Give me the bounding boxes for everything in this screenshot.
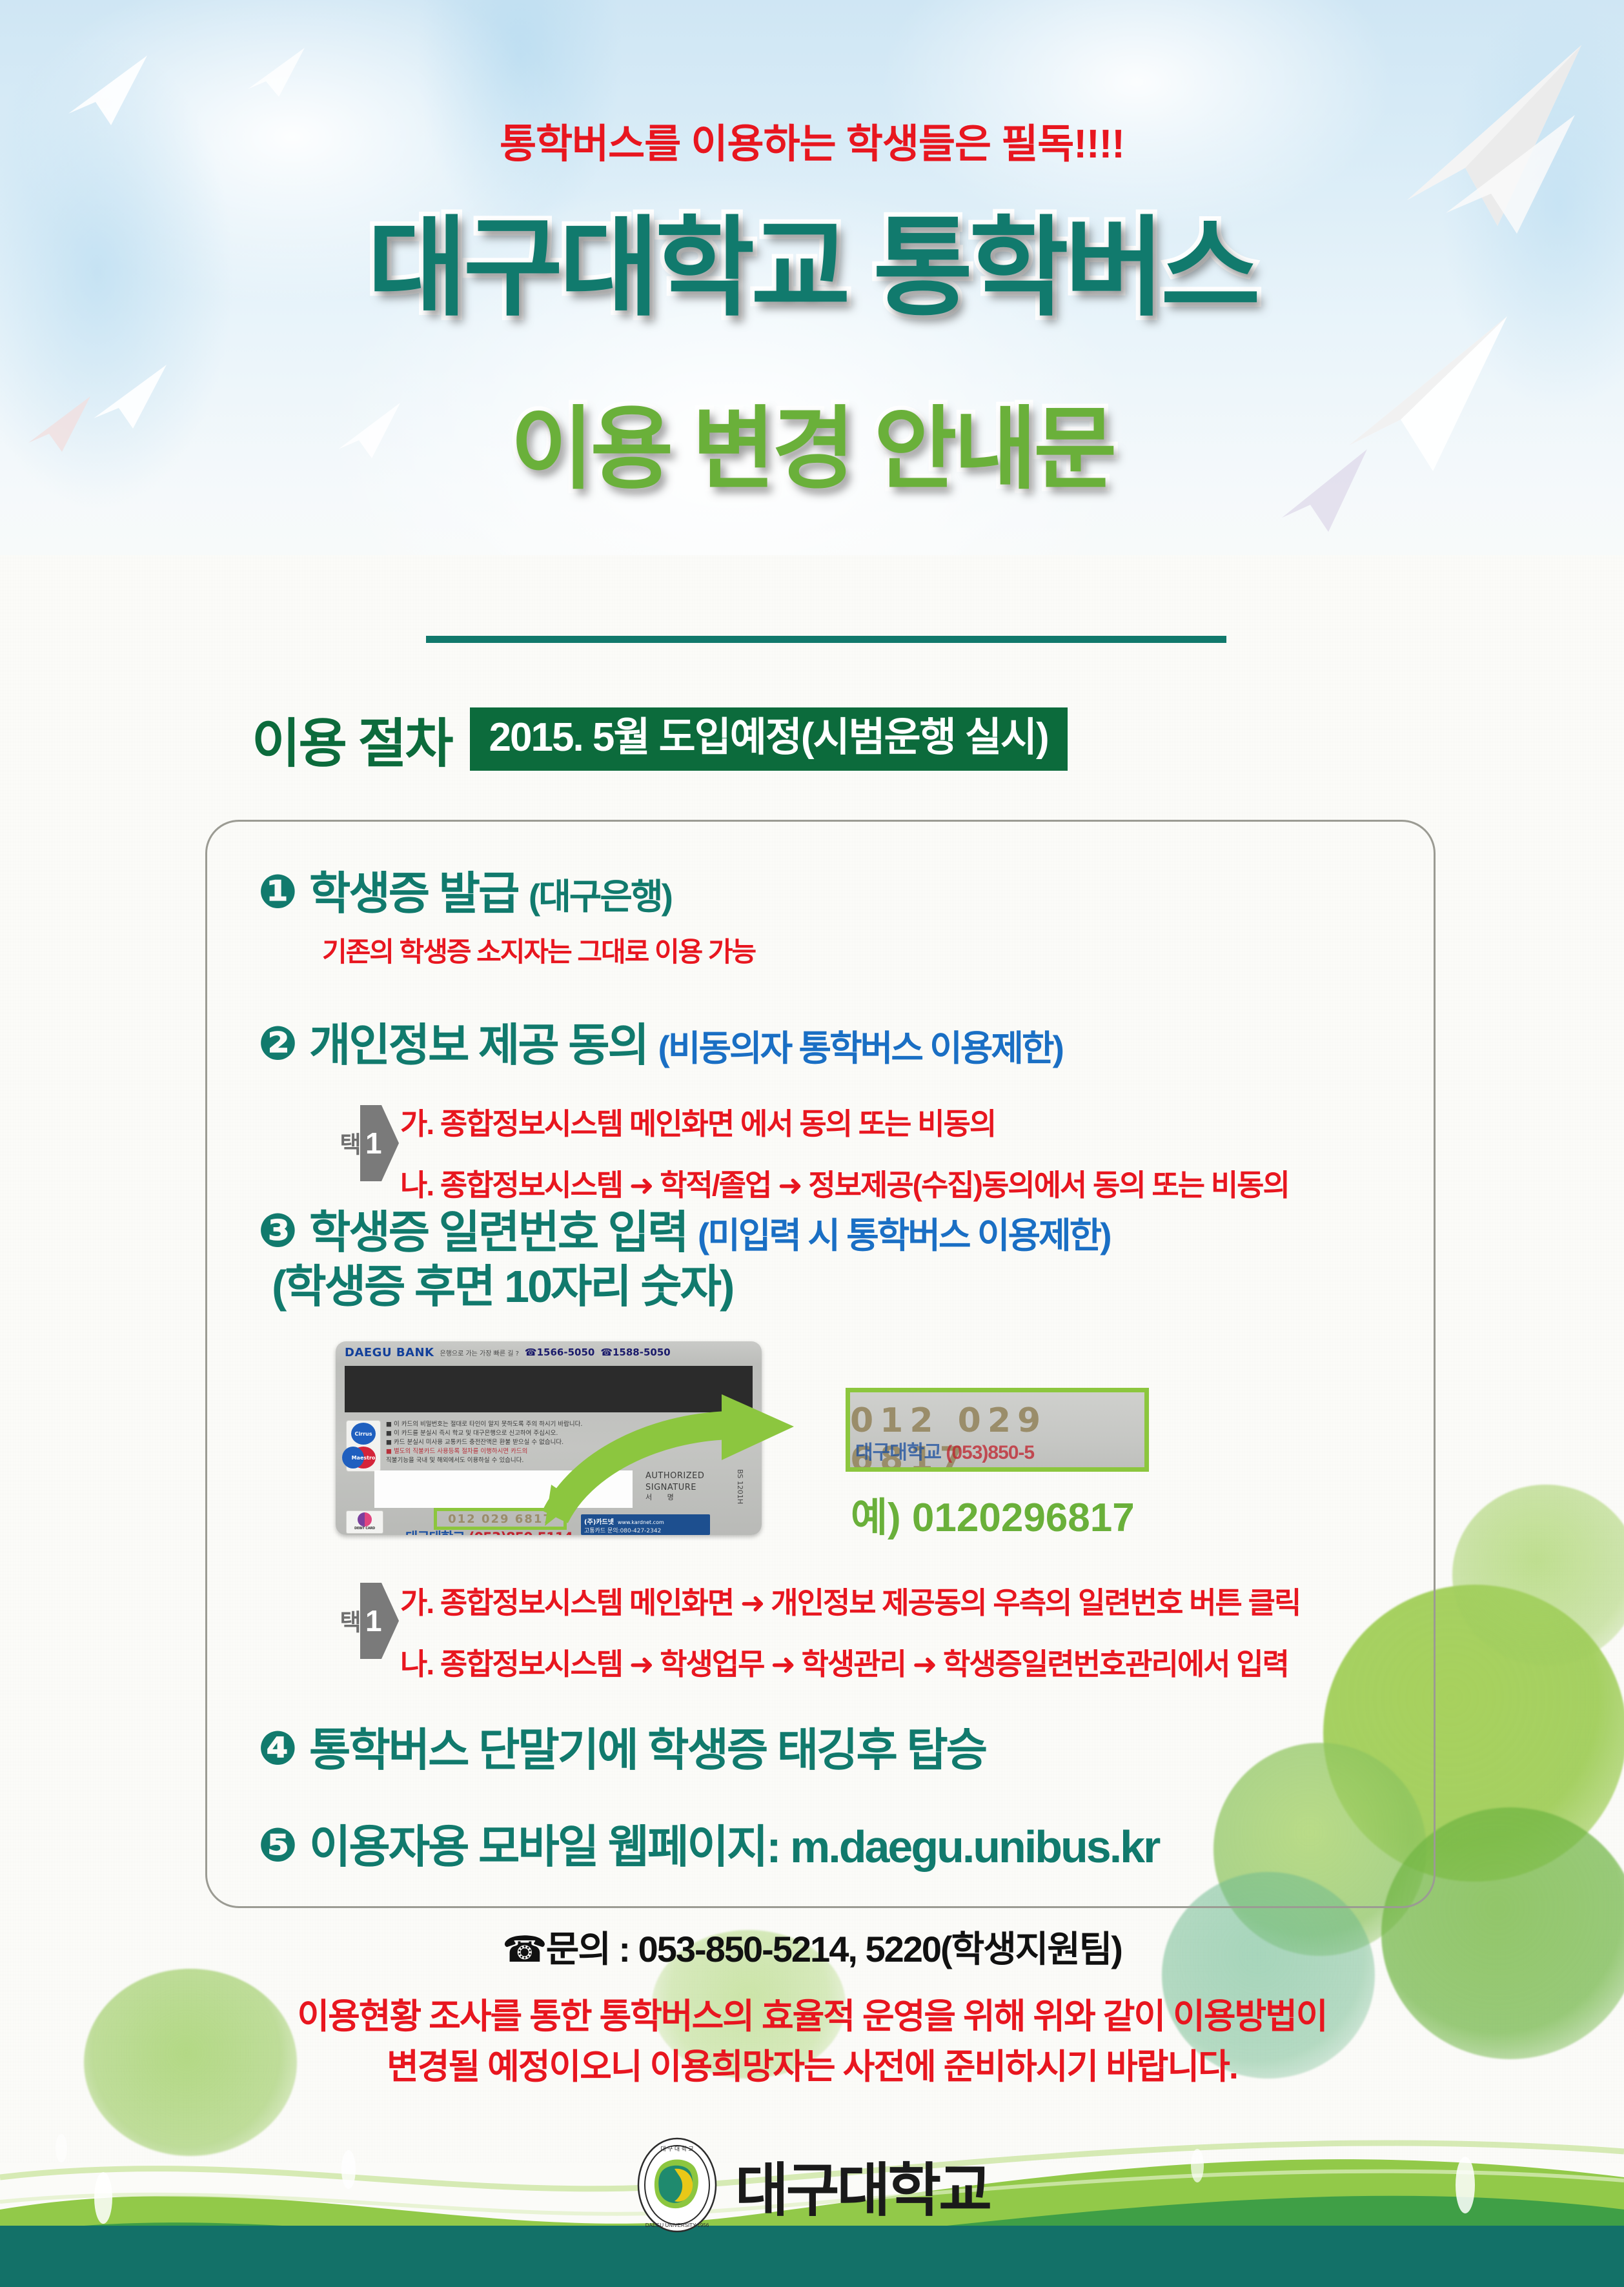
daegu-bank-logo: DAEGU BANK [345, 1346, 434, 1359]
step-subtext: 기존의 학생증 소지자는 그대로 이용 가능 [322, 930, 755, 970]
step-heading-text: 학생증 발급 [309, 868, 518, 919]
step-heading-text: 개인정보 제공 동의 [309, 1020, 647, 1070]
pick-label: 택 [337, 1132, 360, 1154]
contact-line: ☎문의 : 053-850-5214, 5220(학생지원팀) [0, 1920, 1624, 1973]
card-slogan: 은행으로 가는 가장 빠른 길 ? [440, 1348, 519, 1357]
card-network-logos: Cirrus Maestro [346, 1420, 381, 1472]
step-3-options: 가. 종합정보시스템 메인화면 ➜ 개인정보 제공동의 우측의 일련번호 버튼 … [400, 1580, 1300, 1688]
seal-top-text: 대 구 대 학 교 [660, 2146, 693, 2152]
option-text: 나. 종합정보시스템 ➜ 학생업무 ➜ 학생관리 ➜ 학생증일련번호관리에서 입… [400, 1642, 1300, 1687]
pick-one-marker: 택 1 [337, 1105, 399, 1181]
step-heading: 통학버스 단말기에 학생증 태깅후 탑승 [309, 1725, 986, 1775]
step-item-2: ❷ 개인정보 제공 동의 (비동의자 통학버스 이용제한) [258, 1020, 1062, 1070]
card-tel-1: ☎1566-5050 [525, 1347, 594, 1358]
pick-one-marker: 택 1 [337, 1583, 399, 1659]
pick-number: 1 [365, 1606, 382, 1636]
step-number: ❹ [258, 1725, 298, 1771]
poster-title-sub: 이용 변경 안내문 [0, 403, 1624, 496]
option-text: 나. 종합정보시스템 ➜ 학적/졸업 ➜ 정보제공(수집)동의에서 동의 또는 … [400, 1163, 1289, 1208]
debit-icon [358, 1512, 372, 1527]
pick-number: 1 [365, 1128, 382, 1158]
zoom-blur-right: (053)850-5 [946, 1442, 1034, 1463]
section-badge: 2015. 5월 도입예정(시범운행 실시) [470, 707, 1068, 771]
section-title: 이용 절차 [252, 700, 452, 777]
notice-line-1: 이용현황 조사를 통한 통학버스의 효율적 운영을 위해 위와 같이 이용방법이 [297, 1997, 1326, 2036]
bottom-notice: 이용현황 조사를 통한 통학버스의 효율적 운영을 위해 위와 같이 이용방법이… [0, 1991, 1624, 2093]
step-number: ❷ [258, 1020, 298, 1066]
step-item-3: ❸ 학생증 일련번호 입력 (미입력 시 통학버스 이용제한) (학생증 후면 … [258, 1207, 1110, 1312]
debit-card-badge: DEBIT CARD [346, 1510, 383, 1534]
pick-label: 택 [337, 1610, 360, 1632]
serial-example-text: 예) 0120296817 [851, 1485, 1135, 1543]
maestro-logo: Maestro [351, 1447, 376, 1469]
serial-zoom-box: 012 029 6817 대구대학교 (053)850-5 [846, 1388, 1149, 1472]
step-item-5: ❺ 이용자용 모바일 웹페이지: m.daegu.unibus.kr [258, 1822, 1159, 1872]
cirrus-logo: Cirrus [351, 1423, 376, 1445]
debit-label: DEBIT CARD [347, 1527, 383, 1530]
card-top-row: DAEGU BANK 은행으로 가는 가장 빠른 길 ? ☎1566-5050 … [336, 1341, 762, 1363]
step-heading: 학생증 일련번호 입력 (미입력 시 통학버스 이용제한) [309, 1207, 1110, 1257]
poster-title-main: 대구대학교 통학버스 [0, 213, 1624, 323]
university-name: 대구대학교 [735, 2143, 990, 2227]
step-heading-paren: (미입력 시 통학버스 이용제한) [698, 1215, 1110, 1255]
step-heading-text: 학생증 일련번호 입력 [309, 1207, 687, 1257]
seal-bottom-text: DAEGU UNIVERSITY 1956 [645, 2222, 709, 2228]
university-seal-logo: 대 구 대 학 교 DAEGU UNIVERSITY 1956 [634, 2137, 720, 2233]
zoom-blur-left: 대구대학교 [855, 1442, 941, 1463]
poster-root: 통학버스를 이용하는 학생들은 필독!!!! 대구대학교 통학버스 이용 변경 … [0, 0, 1624, 2287]
step-2-options: 가. 종합정보시스템 메인화면 에서 동의 또는 비동의 나. 종합정보시스템 … [400, 1101, 1289, 1209]
section-header: 이용 절차 2015. 5월 도입예정(시범운행 실시) [252, 700, 1068, 777]
step-heading: 개인정보 제공 동의 (비동의자 통학버스 이용제한) [309, 1020, 1062, 1070]
pick-arrow-icon: 1 [360, 1105, 399, 1181]
pick-arrow-icon: 1 [360, 1583, 399, 1659]
step-heading: 학생증 발급 (대구은행) [309, 868, 755, 919]
notice-line-2: 변경될 예정이오니 이용희망자는 사전에 준비하시기 바랍니다. [387, 2048, 1237, 2086]
step-heading: 이용자용 모바일 웹페이지: m.daegu.unibus.kr [309, 1822, 1159, 1872]
zoomed-blurred-line: 대구대학교 (053)850-5 [855, 1436, 1034, 1465]
option-text: 가. 종합정보시스템 메인화면 ➜ 개인정보 제공동의 우측의 일련번호 버튼 … [400, 1580, 1300, 1626]
step-heading-line2: (학생증 후면 10자리 숫자) [272, 1261, 1110, 1312]
card-univ-name: 대구대학교 [405, 1530, 465, 1535]
step-item-4: ❹ 통학버스 단말기에 학생증 태깅후 탑승 [258, 1725, 986, 1775]
green-curved-arrow-icon [536, 1388, 871, 1530]
university-brand: 대 구 대 학 교 DAEGU UNIVERSITY 1956 대구대학교 [0, 2137, 1624, 2233]
step-number: ❺ [258, 1822, 298, 1868]
kicker-text: 통학버스를 이용하는 학생들은 필독!!!! [0, 111, 1624, 169]
card-univ-tel: (053)850-5114 [469, 1530, 573, 1535]
footer-color-bar [0, 2226, 1624, 2287]
step-heading-paren: (대구은행) [529, 877, 671, 917]
step-number: ❸ [258, 1207, 298, 1254]
step-number: ❶ [258, 868, 298, 915]
step-item-1: ❶ 학생증 발급 (대구은행) 기존의 학생증 소지자는 그대로 이용 가능 [258, 868, 755, 970]
title-divider [426, 636, 1226, 643]
step-heading-paren: (비동의자 통학버스 이용제한) [658, 1028, 1062, 1068]
card-tel-2: ☎1588-5050 [600, 1347, 670, 1358]
option-text: 가. 종합정보시스템 메인화면 에서 동의 또는 비동의 [400, 1101, 1289, 1147]
